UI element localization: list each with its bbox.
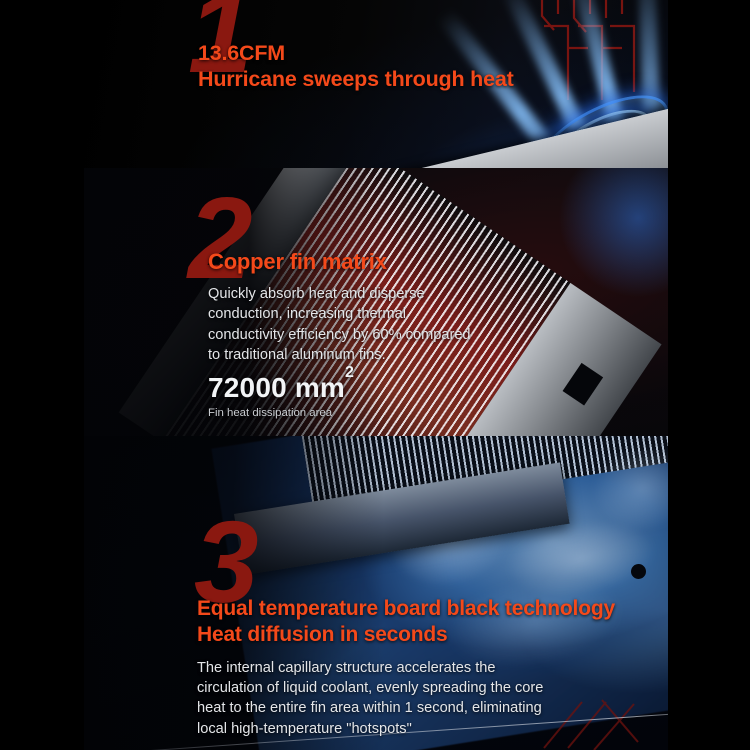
card-port-dot (631, 564, 646, 579)
section-numeral-3: 3 (194, 516, 259, 609)
section-2-stat-caption: Fin heat dissipation area (208, 407, 354, 419)
letterbox-bar-left (0, 0, 84, 750)
product-feature-poster: 1 2 3 13.6CFM Hurricane sweeps through h… (0, 0, 750, 750)
section-2-stat-value: 72000 mm2 (208, 372, 354, 404)
stat-number: 72000 mm (208, 372, 345, 403)
stat-superscript: 2 (345, 364, 354, 381)
poster-content-stage: 1 2 3 13.6CFM Hurricane sweeps through h… (84, 0, 668, 750)
section-2-stat-block: 72000 mm2 Fin heat dissipation area (208, 372, 354, 419)
letterbox-bar-right (668, 0, 750, 750)
section-3-headline-line2: Heat diffusion in seconds (197, 622, 615, 648)
section-3-text-block: Equal temperature board black technology… (197, 596, 615, 739)
section-2-headline: Copper fin matrix (208, 248, 480, 275)
section-1-text-block: 13.6CFM Hurricane sweeps through heat (198, 40, 514, 93)
section-1-stat-headline: 13.6CFM (198, 40, 514, 66)
section-1-headline: Hurricane sweeps through heat (198, 66, 514, 92)
section-3-body: The internal capillary structure acceler… (197, 658, 549, 739)
section-2-text-block: Copper fin matrix Quickly absorb heat an… (208, 248, 480, 365)
section-3-headline-line1: Equal temperature board black technology (197, 596, 615, 622)
section-2-body: Quickly absorb heat and disperse conduct… (208, 284, 480, 365)
